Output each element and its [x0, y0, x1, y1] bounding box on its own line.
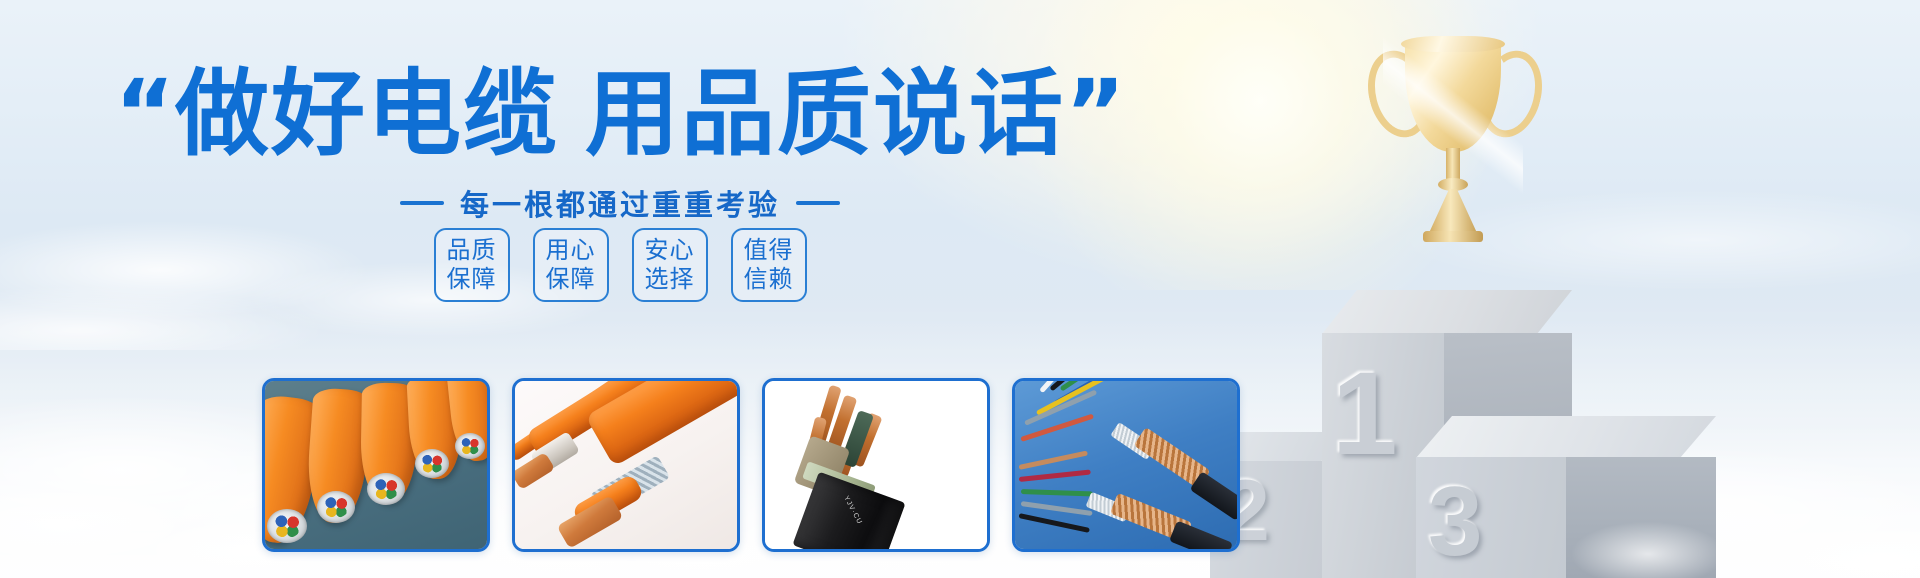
- product-card-row: YJV·CU: [262, 378, 1240, 552]
- product-image-4: [1015, 381, 1237, 549]
- badge-line-1: 值得: [744, 236, 794, 265]
- headline-part-2: 用品质说话: [585, 60, 1065, 169]
- feature-badge-group: 品质 保障 用心 保障 安心 选择 值得 信赖: [0, 228, 1240, 302]
- headline-part-1: 做好电缆: [175, 60, 559, 169]
- winners-podium: 2 1 3: [1230, 0, 1920, 578]
- subtitle-row: 每一根都通过重重考验: [0, 182, 1240, 224]
- badge-line-1: 安心: [645, 236, 695, 265]
- page-title: “做好电缆用品质说话”: [0, 66, 1240, 165]
- badge-safe-choice: 安心 选择: [632, 228, 708, 302]
- gold-trophy-icon: [1353, 22, 1543, 297]
- product-card-stripped-ends[interactable]: [512, 378, 740, 552]
- product-image-3: YJV·CU: [765, 381, 987, 549]
- trophy-rim: [1401, 36, 1505, 52]
- badge-trustworthy: 值得 信赖: [731, 228, 807, 302]
- subtitle-rule-left: [400, 201, 444, 205]
- promo-banner: 2 1 3 “做好电缆用品质说话” 每一根都通过重重考验: [0, 0, 1920, 578]
- product-image-2: [515, 381, 737, 549]
- product-card-shielded-control[interactable]: [1012, 378, 1240, 552]
- product-card-black-jacket[interactable]: YJV·CU: [762, 378, 990, 552]
- product-image-1: [265, 381, 487, 549]
- open-quote: “: [115, 60, 175, 167]
- badge-line-2: 保障: [546, 265, 596, 294]
- subtitle-text: 每一根都通过重重考验: [460, 182, 780, 224]
- badge-line-2: 选择: [645, 265, 695, 294]
- badge-line-1: 用心: [546, 236, 596, 265]
- trophy-cup: [1405, 40, 1501, 152]
- product-card-orange-bundle[interactable]: [262, 378, 490, 552]
- podium-number-1: 1: [1332, 355, 1398, 473]
- trophy-cone: [1429, 189, 1477, 233]
- podium-third-top: [1416, 416, 1716, 458]
- podium-number-3: 3: [1428, 472, 1483, 570]
- badge-line-2: 保障: [447, 265, 497, 294]
- badge-line-2: 信赖: [744, 265, 794, 294]
- trophy-base: [1423, 231, 1483, 242]
- close-quote: ”: [1065, 60, 1125, 167]
- badge-line-1: 品质: [447, 236, 497, 265]
- badge-attentive-guarantee: 用心 保障: [533, 228, 609, 302]
- podium-third-side: [1565, 457, 1716, 578]
- badge-quality-guarantee: 品质 保障: [434, 228, 510, 302]
- subtitle-rule-right: [796, 201, 840, 205]
- banner-content: “做好电缆用品质说话” 每一根都通过重重考验 品质 保障 用心 保障 安心 选择…: [0, 0, 1240, 578]
